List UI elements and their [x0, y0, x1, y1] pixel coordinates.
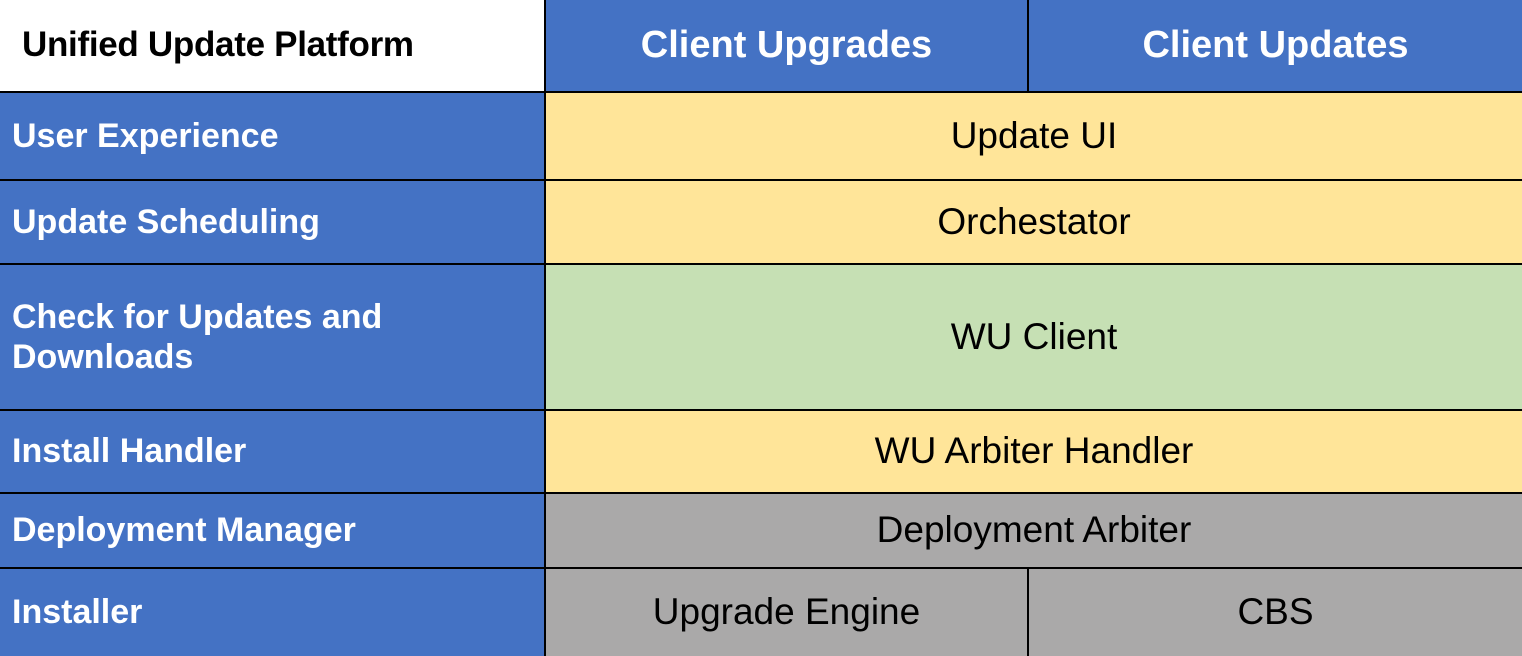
- table-row: Deployment Manager Deployment Arbiter: [0, 493, 1522, 568]
- table-row: Install Handler WU Arbiter Handler: [0, 410, 1522, 493]
- table-row: Update Scheduling Orchestator: [0, 180, 1522, 264]
- column-header-client-updates: Client Updates: [1028, 0, 1522, 92]
- cell-update-ui: Update UI: [545, 92, 1522, 180]
- row-label-text: User Experience: [12, 116, 544, 156]
- cell-orchestator: Orchestator: [545, 180, 1522, 264]
- row-label-deployment-manager: Deployment Manager: [0, 493, 545, 568]
- cell-text: WU Client: [951, 316, 1118, 357]
- row-label-user-experience: User Experience: [0, 92, 545, 180]
- row-label-check-for-updates-and-downloads: Check for Updates and Downloads: [0, 264, 545, 410]
- row-label-text: Update Scheduling: [12, 202, 544, 242]
- column-header-label: Client Updates: [1142, 24, 1408, 66]
- row-label-text: Installer: [12, 592, 544, 632]
- cell-upgrade-engine: Upgrade Engine: [545, 568, 1028, 656]
- page-title: Unified Update Platform: [22, 25, 414, 64]
- cell-cbs: CBS: [1028, 568, 1522, 656]
- table-title-cell: Unified Update Platform: [0, 0, 545, 92]
- row-label-install-handler: Install Handler: [0, 410, 545, 493]
- cell-text: Upgrade Engine: [653, 591, 920, 632]
- column-header-client-upgrades: Client Upgrades: [545, 0, 1028, 92]
- column-header-label: Client Upgrades: [641, 24, 932, 66]
- cell-deployment-arbiter: Deployment Arbiter: [545, 493, 1522, 568]
- row-label-update-scheduling: Update Scheduling: [0, 180, 545, 264]
- row-label-text: Check for Updates and Downloads: [12, 297, 544, 377]
- cell-text: WU Arbiter Handler: [875, 430, 1194, 471]
- table-row: Check for Updates and Downloads WU Clien…: [0, 264, 1522, 410]
- table-header-row: Unified Update Platform Client Upgrades …: [0, 0, 1522, 92]
- row-label-installer: Installer: [0, 568, 545, 656]
- cell-text: Update UI: [951, 115, 1118, 156]
- cell-text: Orchestator: [937, 201, 1130, 242]
- row-label-text: Install Handler: [12, 431, 544, 471]
- table-row: Installer Upgrade Engine CBS: [0, 568, 1522, 656]
- cell-wu-arbiter-handler: WU Arbiter Handler: [545, 410, 1522, 493]
- cell-text: Deployment Arbiter: [877, 509, 1192, 550]
- table-row: User Experience Update UI: [0, 92, 1522, 180]
- cell-wu-client: WU Client: [545, 264, 1522, 410]
- unified-update-platform-table: Unified Update Platform Client Upgrades …: [0, 0, 1522, 656]
- cell-text: CBS: [1237, 591, 1313, 632]
- row-label-text: Deployment Manager: [12, 510, 544, 550]
